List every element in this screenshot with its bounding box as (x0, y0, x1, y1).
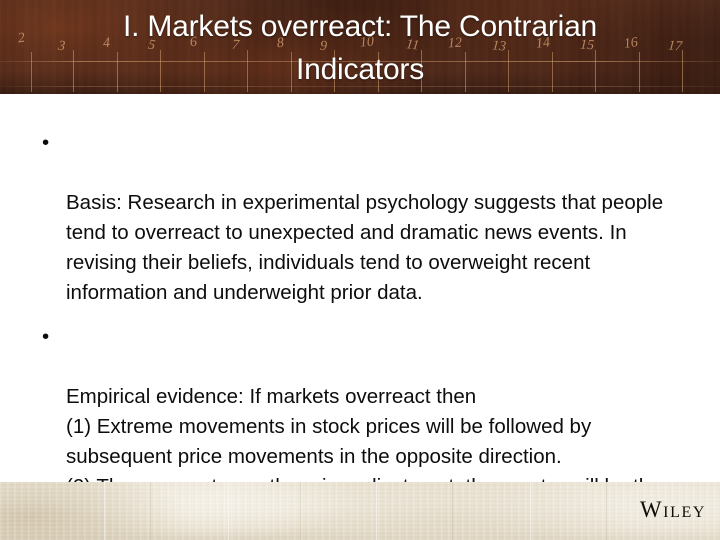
list-item-text: Basis: Research in experimental psycholo… (66, 191, 663, 304)
slide-footer-band: Wiley (0, 482, 720, 540)
slide-header-band: 2 3 4 5 6 7 8 9 10 11 12 13 14 15 16 17 … (0, 0, 720, 94)
footer-seam (376, 482, 377, 540)
presentation-slide: 2 3 4 5 6 7 8 9 10 11 12 13 14 15 16 17 … (0, 0, 720, 540)
footer-seam (530, 482, 531, 540)
footer-seam (150, 482, 151, 540)
header-tick-mark (31, 52, 32, 92)
footer-seam (104, 482, 105, 540)
header-tick-mark (682, 50, 683, 92)
list-item: • Basis: Research in experimental psycho… (36, 128, 684, 308)
bullet-dot-icon: • (42, 128, 49, 158)
wiley-logo: Wiley (640, 498, 706, 521)
bullet-dot-icon: • (42, 322, 49, 352)
footer-seam (228, 482, 229, 540)
slide-body: • Basis: Research in experimental psycho… (0, 94, 720, 482)
footer-seam (606, 482, 607, 540)
footer-weave-horizontal (0, 482, 720, 540)
slide-title: I. Markets overreact: The Contrarian Ind… (40, 6, 680, 91)
footer-seam (300, 482, 301, 540)
footer-seam (452, 482, 453, 540)
bullet-list: • Basis: Research in experimental psycho… (36, 128, 684, 532)
